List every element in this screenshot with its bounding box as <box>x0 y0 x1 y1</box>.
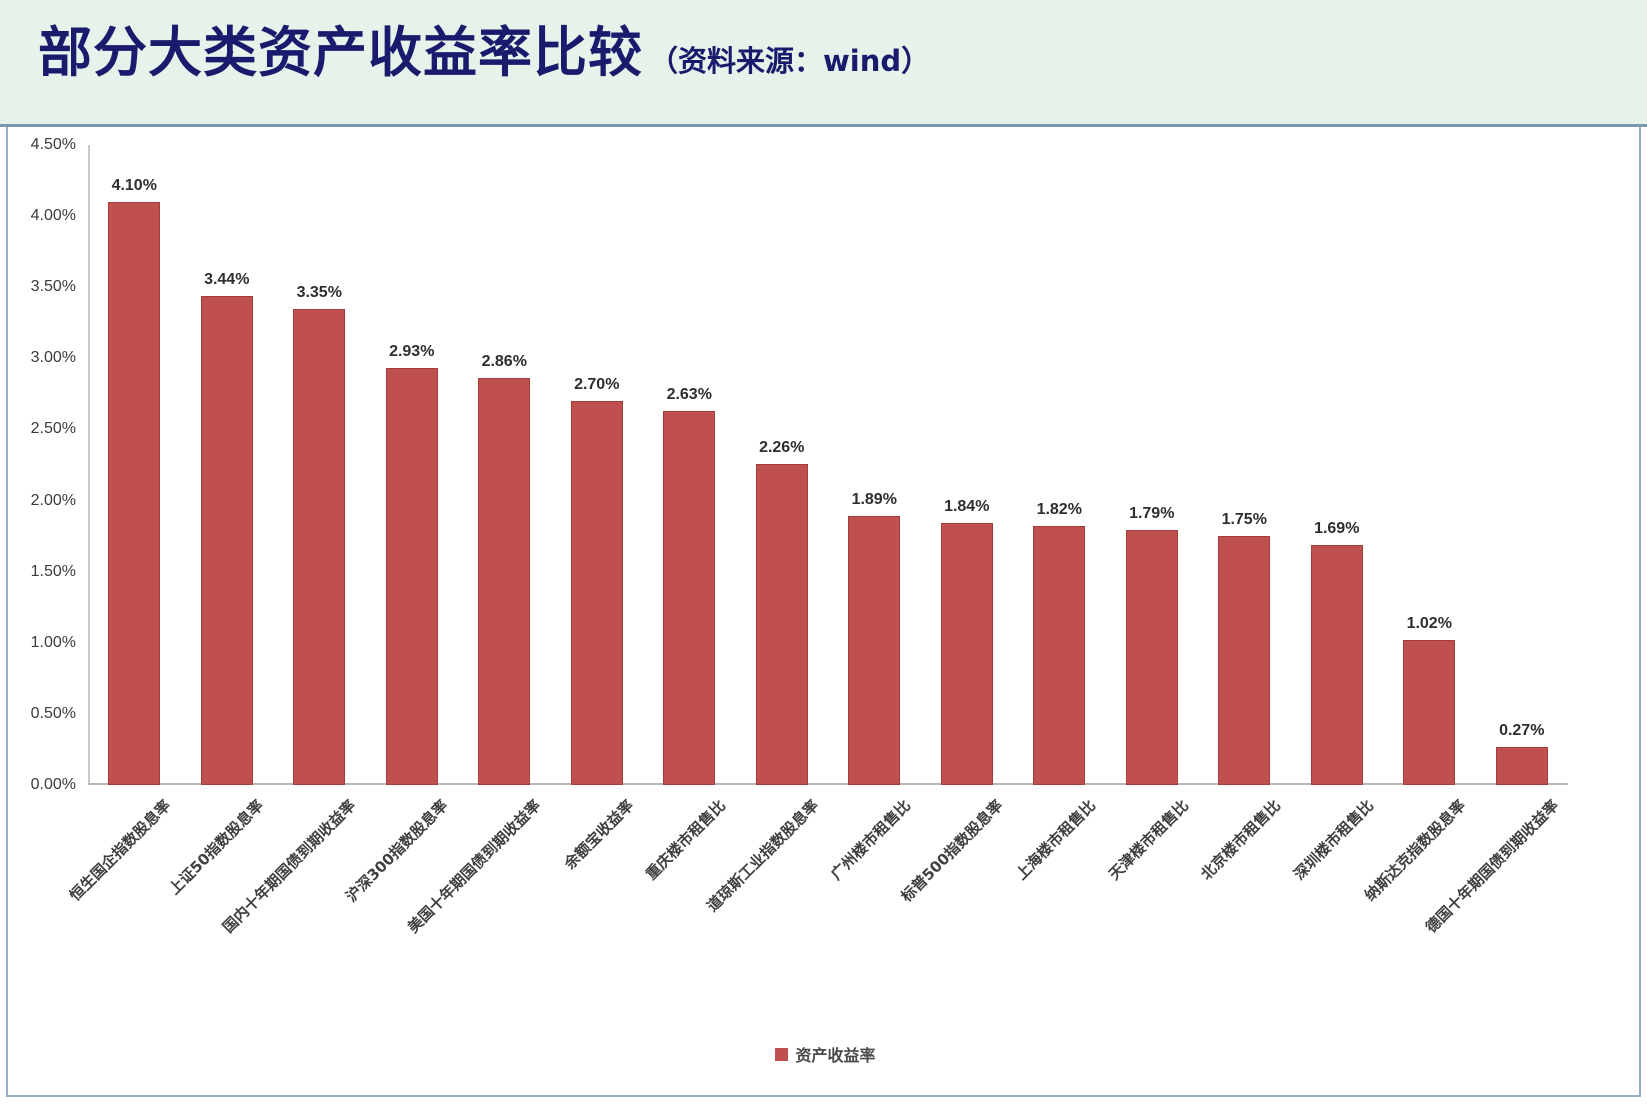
bar[interactable] <box>1496 747 1548 785</box>
bar-slot: 2.86% <box>459 145 549 785</box>
bar-value-label: 1.84% <box>922 498 1012 516</box>
bar-slot: 1.02% <box>1384 145 1474 785</box>
bar-value-label: 1.02% <box>1384 615 1474 633</box>
bar-value-label: 1.82% <box>1014 501 1104 519</box>
x-axis-category-label: 北京楼市租售比 <box>1196 795 1285 884</box>
bar-value-label: 1.69% <box>1292 520 1382 538</box>
x-axis-category-label: 标普500指数股息率 <box>896 795 1007 906</box>
x-axis-category-labels: 恒生国企指数股息率上证50指数股息率国内十年期国债到期收益率沪深300指数股息率… <box>88 787 1568 1037</box>
bar-slot: 2.93% <box>367 145 457 785</box>
x-axis-category-label: 恒生国企指数股息率 <box>65 795 175 905</box>
y-axis-tick: 1.50% <box>8 563 76 581</box>
y-axis-tick: 3.50% <box>8 278 76 296</box>
x-axis-category-label: 广州楼市租售比 <box>826 795 915 884</box>
bar-slot: 1.79% <box>1107 145 1197 785</box>
bar[interactable] <box>478 378 530 785</box>
bar[interactable] <box>848 516 900 785</box>
bar[interactable] <box>1403 640 1455 785</box>
legend-label: 资产收益率 <box>795 1042 875 1066</box>
bar-value-label: 2.63% <box>644 386 734 404</box>
title-line: 部分大类资产收益率比较 （资料来源：wind） <box>38 26 930 80</box>
title-source-note: （资料来源：wind） <box>649 38 930 80</box>
bar[interactable] <box>1126 530 1178 785</box>
bar-value-label: 3.35% <box>274 284 364 302</box>
y-axis-tick: 0.50% <box>8 705 76 723</box>
x-axis-category-label: 天津楼市租售比 <box>1103 795 1192 884</box>
bar-slot: 1.69% <box>1292 145 1382 785</box>
header-banner: 部分大类资产收益率比较 （资料来源：wind） <box>0 0 1647 127</box>
y-axis-tick: 0.00% <box>8 776 76 794</box>
bar-value-label: 4.10% <box>89 177 179 195</box>
bar-slot: 1.75% <box>1199 145 1289 785</box>
bar-value-label: 3.44% <box>182 271 272 289</box>
x-axis-category-label: 重庆楼市租售比 <box>641 795 730 884</box>
y-axis-tick: 4.00% <box>8 207 76 225</box>
bar[interactable] <box>108 202 160 785</box>
bar-slot: 2.70% <box>552 145 642 785</box>
y-axis-tick: 2.50% <box>8 420 76 438</box>
bar-slot: 0.27% <box>1477 145 1567 785</box>
bars-layer: 4.10%3.44%3.35%2.93%2.86%2.70%2.63%2.26%… <box>88 145 1568 785</box>
bar[interactable] <box>1218 536 1270 785</box>
bar-slot: 4.10% <box>89 145 179 785</box>
legend: 资产收益率 <box>8 1042 1643 1066</box>
bar-slot: 2.26% <box>737 145 827 785</box>
page-title: 部分大类资产收益率比较 <box>38 26 643 80</box>
x-axis-category-label: 深圳楼市租售比 <box>1288 795 1377 884</box>
y-axis-tick: 1.00% <box>8 634 76 652</box>
x-axis-category-label: 上海楼市租售比 <box>1011 795 1100 884</box>
bar-value-label: 2.26% <box>737 439 827 457</box>
bar[interactable] <box>201 296 253 785</box>
x-axis-category-label: 余额宝收益率 <box>559 795 637 873</box>
bar[interactable] <box>1033 526 1085 785</box>
bar-value-label: 1.75% <box>1199 511 1289 529</box>
bar[interactable] <box>293 309 345 785</box>
bar-value-label: 2.93% <box>367 343 457 361</box>
bar-slot: 2.63% <box>644 145 734 785</box>
bar[interactable] <box>386 368 438 785</box>
bar-value-label: 2.86% <box>459 353 549 371</box>
bar-value-label: 0.27% <box>1477 722 1567 740</box>
bar-slot: 1.82% <box>1014 145 1104 785</box>
bar-value-label: 1.89% <box>829 491 919 509</box>
bar-slot: 3.44% <box>182 145 272 785</box>
bar-value-label: 2.70% <box>552 376 642 394</box>
chart-frame: 0.00%0.50%1.00%1.50%2.00%2.50%3.00%3.50%… <box>6 127 1641 1097</box>
y-axis-tick: 2.00% <box>8 492 76 510</box>
bar-slot: 3.35% <box>274 145 364 785</box>
plot-area: 0.00%0.50%1.00%1.50%2.00%2.50%3.00%3.50%… <box>8 127 1639 1095</box>
legend-swatch-icon <box>775 1048 788 1061</box>
y-axis-tick: 3.00% <box>8 349 76 367</box>
bar-slot: 1.89% <box>829 145 919 785</box>
bar[interactable] <box>663 411 715 785</box>
bar[interactable] <box>756 464 808 785</box>
bar-value-label: 1.79% <box>1107 505 1197 523</box>
bar[interactable] <box>571 401 623 785</box>
bar[interactable] <box>1311 545 1363 785</box>
x-axis-category-label: 上证50指数股息率 <box>164 795 268 899</box>
y-axis-tick: 4.50% <box>8 136 76 154</box>
bar[interactable] <box>941 523 993 785</box>
bar-slot: 1.84% <box>922 145 1012 785</box>
